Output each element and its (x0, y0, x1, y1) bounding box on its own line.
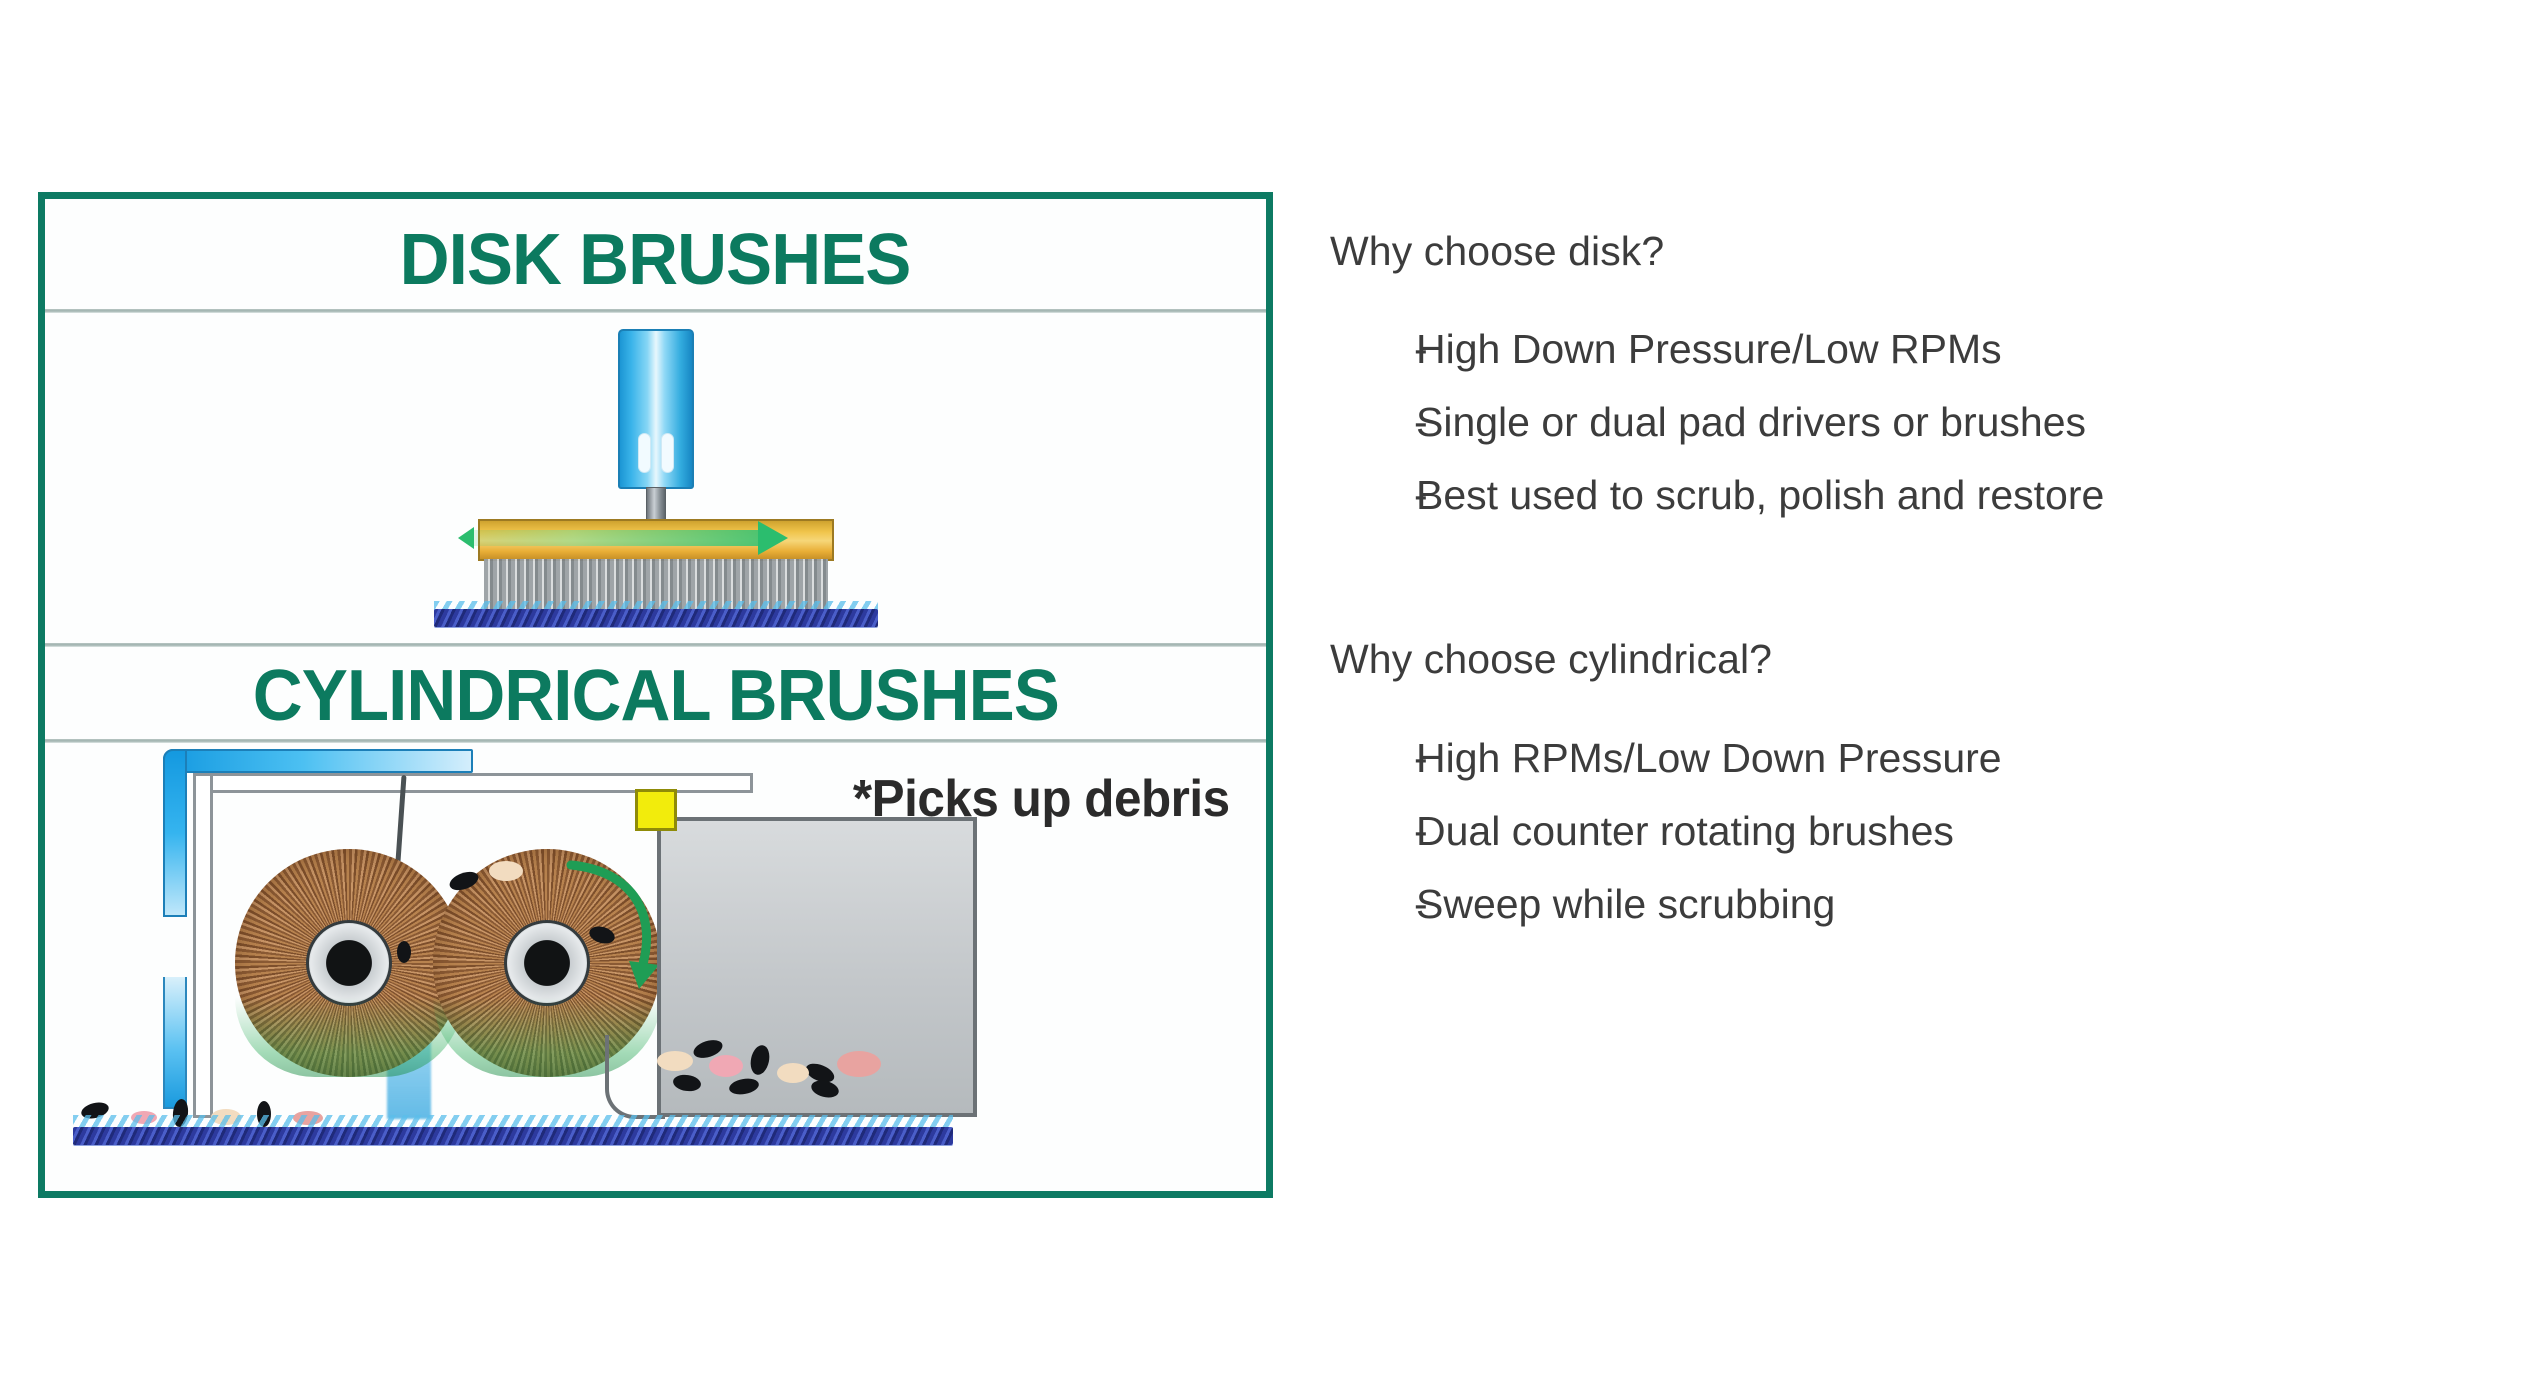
cylindrical-brushes-title: CYLINDRICAL BRUSHES (252, 660, 1058, 732)
divider-rule-lower (45, 739, 1266, 743)
cylindrical-rationale-list: - High RPMs/Low Down Pressure - Dual cou… (1330, 738, 2450, 925)
floor-surface-icon (73, 1127, 953, 1145)
disk-rationale-list: - High Down Pressure/Low RPMs - Single o… (1330, 329, 2450, 516)
list-item: - Best used to scrub, polish and restore (1330, 475, 2450, 516)
cylindrical-brush-left-icon (235, 849, 463, 1077)
debris-particle (837, 1051, 881, 1077)
list-item-label: Best used to scrub, polish and restore (1416, 475, 2450, 516)
cylindrical-brushes-title-band: CYLINDRICAL BRUSHES (45, 647, 1266, 745)
debris-particle (709, 1055, 743, 1077)
list-item-label: Sweep while scrubbing (1416, 884, 2450, 925)
brush-comparison-diagram: DISK BRUSHES CYLINDRICAL BRUSHES *Picks … (38, 192, 1273, 1198)
disk-brush-illustration (45, 315, 1266, 641)
hopper-latch-icon (635, 789, 677, 831)
divider-rule-top (45, 309, 1266, 313)
motor-vent-left-icon (638, 433, 651, 473)
list-item: - Sweep while scrubbing (1330, 884, 2450, 925)
rotation-arrow-head-icon (758, 521, 788, 555)
floor-surface-icon (434, 609, 878, 627)
cylindrical-machine-art (45, 745, 1266, 1191)
explanation-text-column: Why choose disk? - High Down Pressure/Lo… (1330, 226, 2450, 925)
debris-particle (489, 861, 523, 881)
water-splash-icon (73, 1115, 953, 1127)
list-item-label: Single or dual pad drivers or brushes (1416, 402, 2450, 443)
hopper-scoop-icon (605, 1035, 665, 1119)
solution-feed-line-icon (163, 749, 187, 917)
disk-rationale-heading: Why choose disk? (1330, 226, 2450, 277)
list-item-label: High RPMs/Low Down Pressure (1416, 738, 2450, 779)
disk-rationale-block: Why choose disk? - High Down Pressure/Lo… (1330, 226, 2450, 516)
solution-feed-line-lower-icon (163, 977, 187, 1109)
list-item: - Dual counter rotating brushes (1330, 811, 2450, 852)
list-item: - High Down Pressure/Low RPMs (1330, 329, 2450, 370)
bullet-dash: - (1330, 884, 1416, 925)
cylindrical-rationale-block: Why choose cylindrical? - High RPMs/Low … (1330, 634, 2450, 924)
solution-feed-line-top-icon (163, 749, 473, 773)
rotation-arrow-bar-icon (472, 530, 762, 546)
list-item-label: High Down Pressure/Low RPMs (1416, 329, 2450, 370)
disk-brushes-title-band: DISK BRUSHES (45, 207, 1266, 312)
disk-brushes-title: DISK BRUSHES (400, 224, 911, 296)
bullet-dash: - (1330, 402, 1416, 443)
rotation-arrow-tail-icon (458, 527, 474, 549)
debris-particle (657, 1051, 693, 1071)
motor-housing-icon (618, 329, 694, 489)
bullet-dash: - (1330, 329, 1416, 370)
list-item: - High RPMs/Low Down Pressure (1330, 738, 2450, 779)
debris-particle (777, 1063, 809, 1083)
bullet-dash: - (1330, 475, 1416, 516)
cylindrical-rationale-heading: Why choose cylindrical? (1330, 634, 2450, 685)
cylindrical-brush-illustration: *Picks up debris (45, 745, 1266, 1191)
list-item-label: Dual counter rotating brushes (1416, 811, 2450, 852)
motor-vent-right-icon (661, 433, 674, 473)
bullet-dash: - (1330, 811, 1416, 852)
debris-particle (397, 941, 411, 963)
bullet-dash: - (1330, 738, 1416, 779)
drive-shaft-icon (646, 487, 666, 521)
list-item: - Single or dual pad drivers or brushes (1330, 402, 2450, 443)
machine-frame-left-icon (193, 773, 213, 1118)
